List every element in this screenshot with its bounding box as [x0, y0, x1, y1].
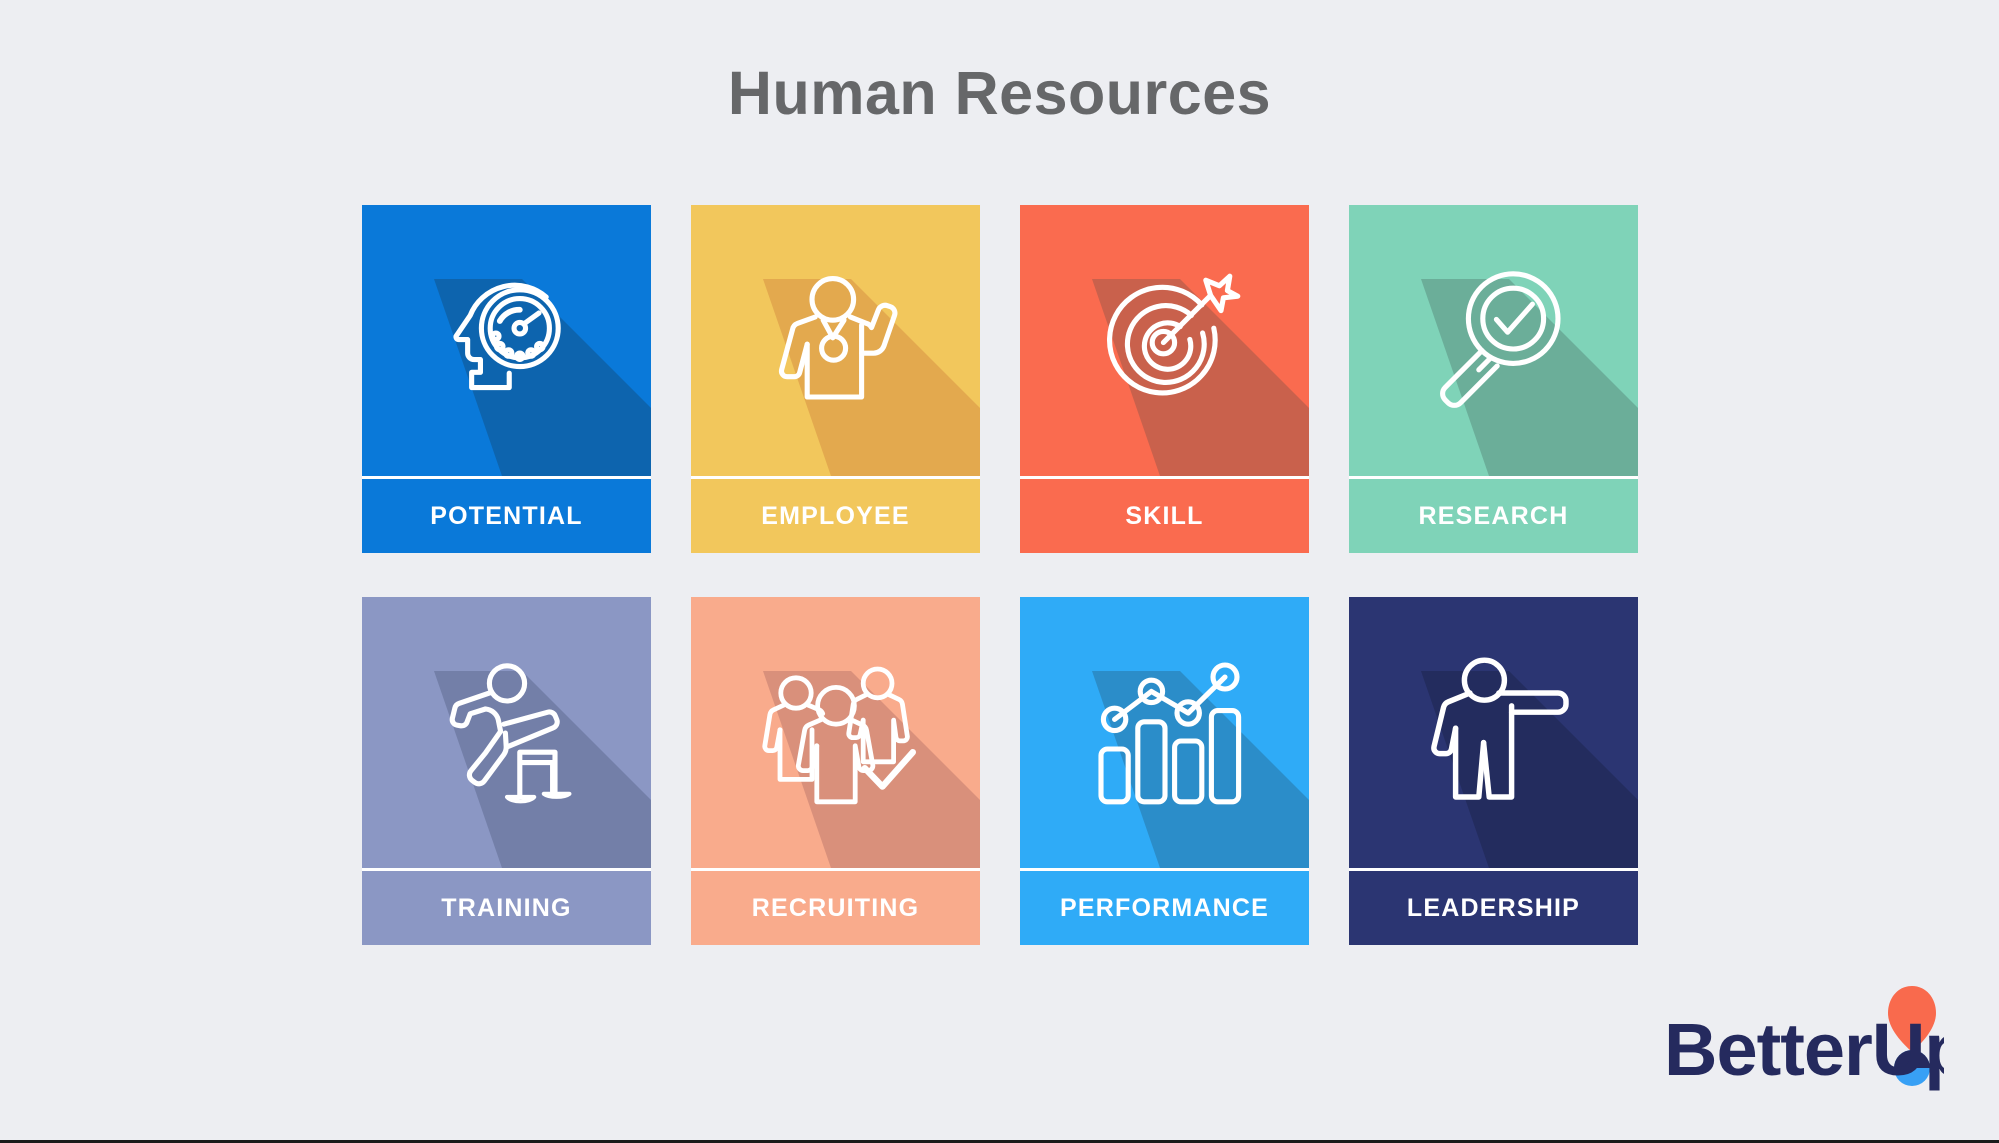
card-label: TRAINING	[441, 896, 571, 921]
card-icon-area	[1349, 205, 1638, 476]
category-card-potential[interactable]: POTENTIAL	[362, 205, 651, 553]
card-label: LEADERSHIP	[1407, 896, 1580, 921]
card-icon-area	[362, 597, 651, 868]
target-arrow-icon	[1085, 261, 1245, 421]
card-icon-area	[691, 597, 980, 868]
bar-chart-line-icon	[1085, 653, 1245, 813]
card-label: SKILL	[1125, 504, 1203, 529]
card-label-band: TRAINING	[362, 871, 651, 945]
card-label: RESEARCH	[1419, 504, 1569, 529]
card-icon-area	[1020, 205, 1309, 476]
card-icon-area	[1020, 597, 1309, 868]
category-card-employee[interactable]: EMPLOYEE	[691, 205, 980, 553]
medal-person-icon	[756, 261, 916, 421]
card-label-band: EMPLOYEE	[691, 479, 980, 553]
category-card-research[interactable]: RESEARCH	[1349, 205, 1638, 553]
card-grid: POTENTIAL EMPLOYEE SKILL RESEARCH	[362, 205, 1638, 945]
person-pointing-icon	[1414, 653, 1574, 813]
card-label: PERFORMANCE	[1060, 896, 1269, 921]
card-label: RECRUITING	[752, 896, 920, 921]
page-title: Human Resources	[0, 58, 1999, 128]
three-people-check-icon	[756, 653, 916, 813]
card-label-band: SKILL	[1020, 479, 1309, 553]
card-label-band: RECRUITING	[691, 871, 980, 945]
card-icon-area	[362, 205, 651, 476]
logo-wordmark: BetterUp	[1664, 1008, 1944, 1091]
card-label: EMPLOYEE	[761, 504, 910, 529]
card-label-band: RESEARCH	[1349, 479, 1638, 553]
card-label-band: POTENTIAL	[362, 479, 651, 553]
head-gauge-icon	[427, 261, 587, 421]
slide-canvas: Human Resources POTENTIAL EMPLOYEE	[0, 0, 1999, 1143]
betterup-logo: BetterUp	[1664, 980, 1944, 1100]
card-label: POTENTIAL	[430, 504, 582, 529]
category-card-performance[interactable]: PERFORMANCE	[1020, 597, 1309, 945]
card-label-band: LEADERSHIP	[1349, 871, 1638, 945]
hurdle-runner-icon	[427, 653, 587, 813]
card-label-band: PERFORMANCE	[1020, 871, 1309, 945]
magnifier-check-icon	[1414, 261, 1574, 421]
card-icon-area	[1349, 597, 1638, 868]
card-icon-area	[691, 205, 980, 476]
category-card-skill[interactable]: SKILL	[1020, 205, 1309, 553]
category-card-training[interactable]: TRAINING	[362, 597, 651, 945]
category-card-leadership[interactable]: LEADERSHIP	[1349, 597, 1638, 945]
category-card-recruiting[interactable]: RECRUITING	[691, 597, 980, 945]
